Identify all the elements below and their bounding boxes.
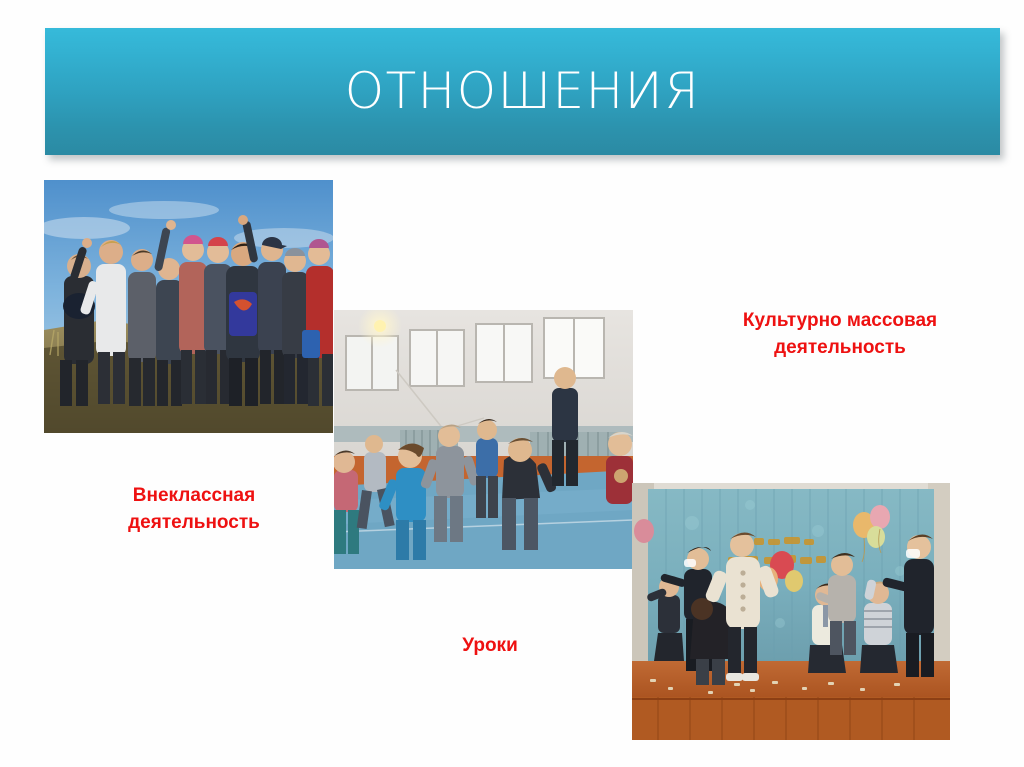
stage-show-illustration [632,483,950,740]
page-title: ОТНОШЕНИЯ [345,66,700,116]
photo-stage-show [632,483,950,740]
title-banner: ОТНОШЕНИЯ [45,28,1000,155]
caption-extracurricular-activity: Внеклассная деятельность [65,483,323,537]
caption-lessons: Уроки [400,633,580,660]
photo-outdoor-group [44,180,333,433]
outdoor-group-illustration [44,180,333,433]
photo-gym-activity [334,310,633,569]
slide-canvas: ОТНОШЕНИЯ [0,0,1024,767]
gym-activity-illustration [334,310,633,569]
caption-cultural-activity: Культурно массовая деятельность [690,308,990,362]
